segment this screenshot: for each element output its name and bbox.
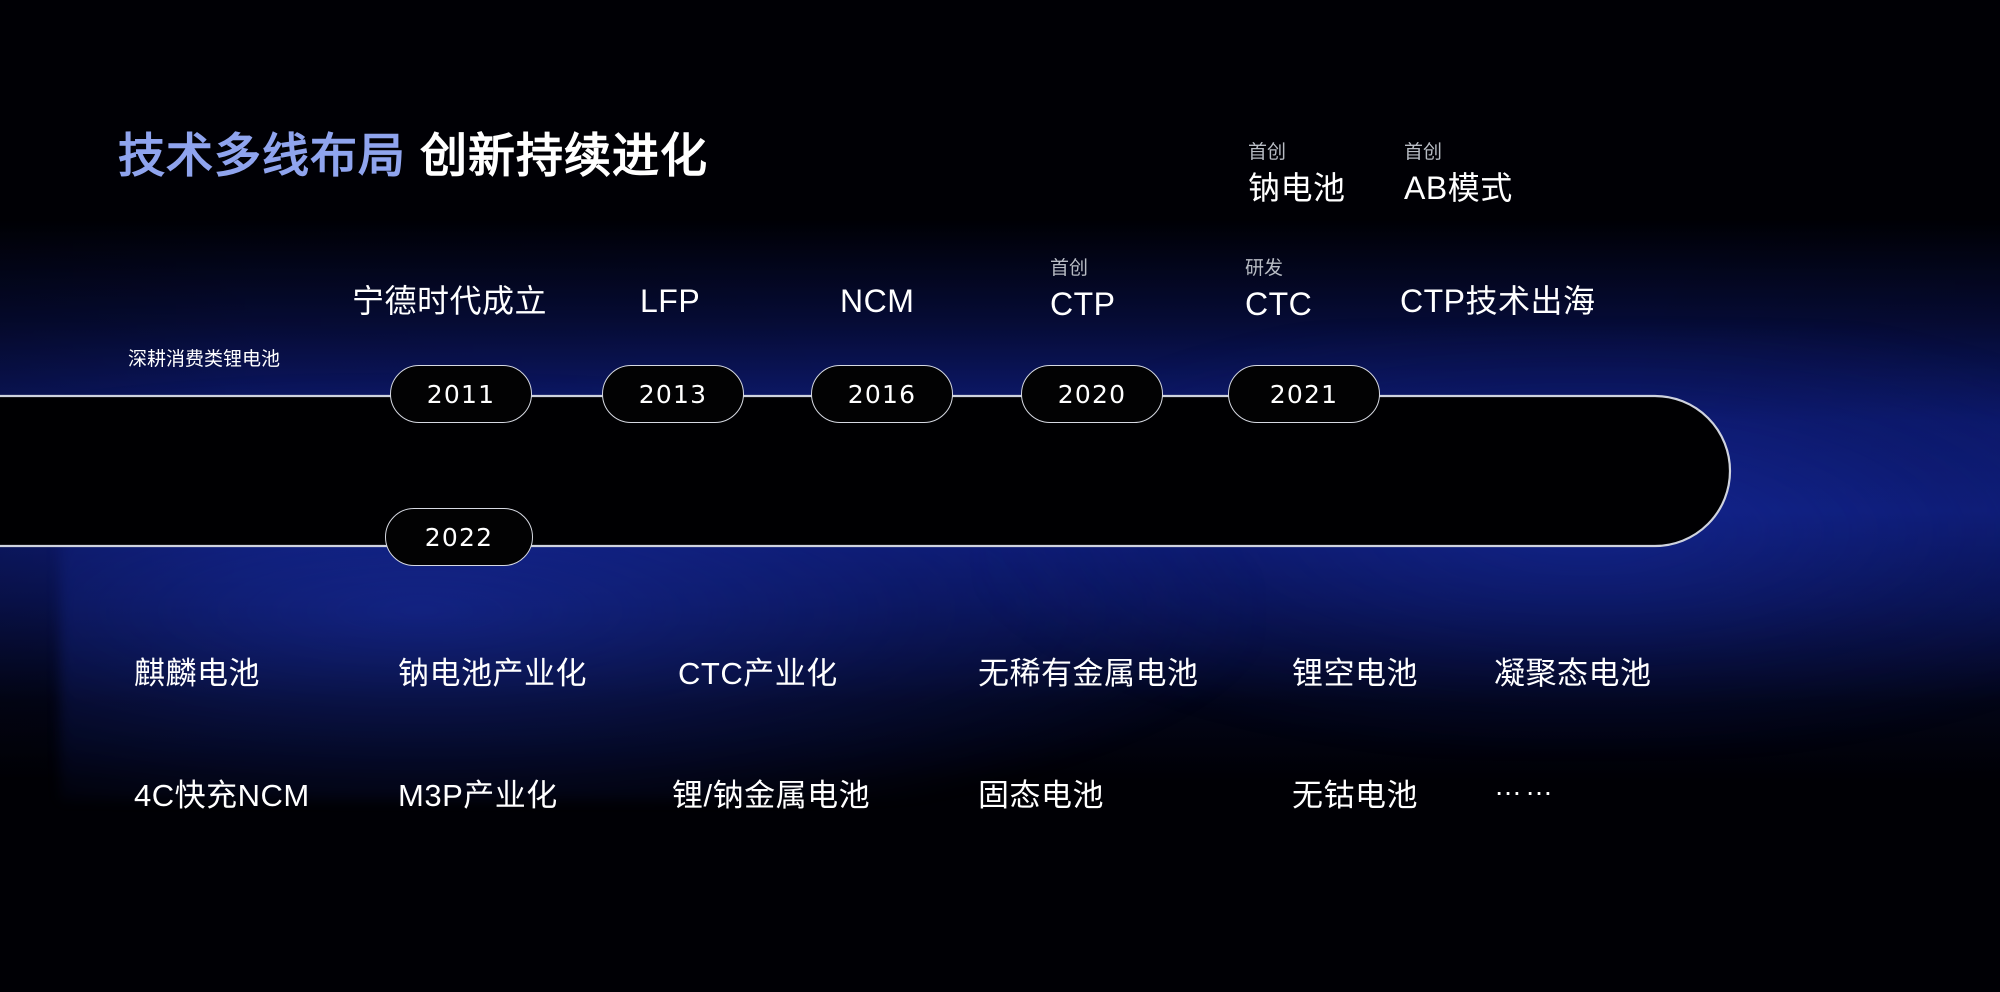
year-pill-2016[interactable]: 2016 xyxy=(811,365,953,423)
page-title: 技术多线布局 创新持续进化 xyxy=(118,132,708,179)
milestone-label: NCM xyxy=(840,283,914,321)
milestone-label: 钠电池 xyxy=(1248,170,1346,208)
milestone-sodium-battery: 首创 钠电池 xyxy=(1248,142,1346,208)
tech-item-qilin-battery: 麒麟电池 xyxy=(134,648,260,693)
tech-item-sodium-industrial: 钠电池产业化 xyxy=(398,648,587,693)
milestone-label: CTP技术出海 xyxy=(1400,283,1596,321)
year-pill-2022[interactable]: 2022 xyxy=(385,508,533,566)
milestone-ncm: NCM xyxy=(840,283,914,321)
tech-item-cobalt-free: 无钴电池 xyxy=(1292,770,1418,815)
tech-item-li-na-metal: 锂/钠金属电池 xyxy=(672,770,870,815)
year-pill-2020[interactable]: 2020 xyxy=(1021,365,1163,423)
milestone-tag: 首创 xyxy=(1248,142,1346,164)
tech-item-condensed-matter: 凝聚态电池 xyxy=(1494,648,1652,693)
milestone-tag: 研发 xyxy=(1245,258,1312,280)
tech-item-rare-metal-free: 无稀有金属电池 xyxy=(978,648,1199,693)
timeline-left-caption: 深耕消费类锂电池 xyxy=(128,344,280,371)
tech-item-ctc-industrial: CTC产业化 xyxy=(678,648,838,693)
milestone-label: LFP xyxy=(640,283,700,321)
tech-item-solid-state: 固态电池 xyxy=(978,770,1104,815)
year-pill-2011[interactable]: 2011 xyxy=(390,365,532,423)
milestone-ctp-overseas: CTP技术出海 xyxy=(1400,283,1596,321)
milestone-tag: 首创 xyxy=(1404,142,1513,164)
milestone-label: AB模式 xyxy=(1404,170,1513,208)
milestone-label: 宁德时代成立 xyxy=(352,283,547,321)
milestone-ctc: 研发 CTC xyxy=(1245,258,1312,324)
tech-item-4c-fastcharge-ncm: 4C快充NCM xyxy=(134,770,310,815)
slide-canvas: 技术多线布局 创新持续进化 深耕消费类锂电池 首创 钠电池 首创 AB模式 宁德… xyxy=(0,0,2000,992)
milestone-catl-founded: 宁德时代成立 xyxy=(352,283,547,321)
milestone-lfp: LFP xyxy=(640,283,700,321)
page-title-rest: 创新持续进化 xyxy=(420,129,708,182)
milestone-ab-mode: 首创 AB模式 xyxy=(1404,142,1513,208)
tech-item-ellipsis: …… xyxy=(1494,770,1556,802)
tech-item-lithium-air: 锂空电池 xyxy=(1292,648,1418,693)
milestone-tag: 首创 xyxy=(1050,258,1116,280)
milestone-label: CTC xyxy=(1245,286,1312,324)
milestone-label: CTP xyxy=(1050,286,1116,324)
page-title-accent: 技术多线布局 xyxy=(118,129,406,182)
tech-item-m3p-industrial: M3P产业化 xyxy=(398,770,558,815)
year-pill-2013[interactable]: 2013 xyxy=(602,365,744,423)
milestone-ctp: 首创 CTP xyxy=(1050,258,1116,324)
year-pill-2021[interactable]: 2021 xyxy=(1228,365,1380,423)
